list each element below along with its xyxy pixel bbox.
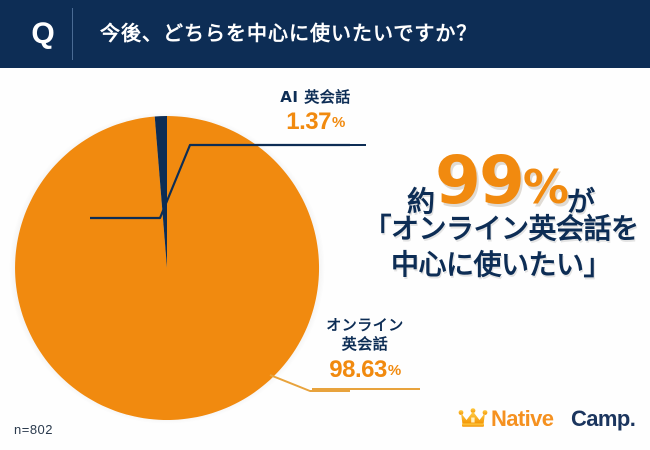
- headline-block: 約99%が 「オンライン英会話を 中心に使いたい」: [352, 150, 650, 282]
- callout-ai: AI 英会話 1.37%: [258, 88, 373, 137]
- callout-online-name-line2: 英会話: [305, 335, 425, 354]
- callout-ai-value: 1.37%: [258, 108, 373, 137]
- logo-text-native: Native: [491, 406, 553, 432]
- callout-online-unit: %: [388, 362, 401, 379]
- headline-big-number: 99: [435, 142, 523, 219]
- headline-row-3: 中心に使いたい」: [352, 248, 650, 282]
- sample-size-label: n=802: [14, 422, 53, 437]
- header-divider: [72, 8, 73, 60]
- callout-online-underline: [312, 388, 420, 390]
- logo-text-camp: Camp.: [571, 406, 635, 432]
- callout-ai-unit: %: [332, 114, 345, 131]
- question-badge: Q: [24, 15, 62, 53]
- callout-online: オンライン 英会話 98.63%: [305, 316, 425, 385]
- callout-ai-underline: [258, 144, 366, 146]
- pie-chart: [0, 95, 350, 435]
- page-title: 今後、どちらを中心に使いたいですか？: [100, 17, 477, 46]
- pie-slice-online: [15, 116, 319, 420]
- infographic-canvas: Q 今後、どちらを中心に使いたいですか？ AI 英会話: [0, 0, 650, 450]
- headline-row-2: 「オンライン英会話を: [352, 212, 650, 246]
- question-header: Q 今後、どちらを中心に使いたいですか？: [0, 0, 650, 68]
- callout-online-number: 98.63: [329, 356, 387, 383]
- callout-online-value: 98.63%: [305, 356, 425, 385]
- headline-big-unit: %: [523, 160, 567, 214]
- callout-ai-name: AI 英会話: [258, 88, 373, 107]
- pie-chart-svg: [0, 95, 350, 435]
- headline-row-1: 約99%が: [352, 150, 650, 212]
- crown-icon: [458, 408, 488, 428]
- callout-online-name-line1: オンライン: [305, 316, 425, 335]
- callout-ai-number: 1.37: [286, 108, 331, 135]
